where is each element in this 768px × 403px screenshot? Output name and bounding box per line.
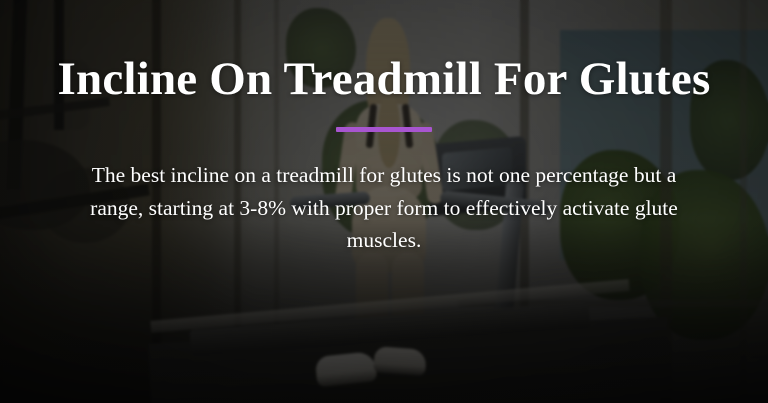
banner-content: Incline On Treadmill For Glutes The best… — [0, 0, 768, 403]
banner-subtitle: The best incline on a treadmill for glut… — [64, 159, 704, 257]
hero-banner: Incline On Treadmill For Glutes The best… — [0, 0, 768, 403]
accent-divider — [336, 127, 432, 132]
page-title: Incline On Treadmill For Glutes — [44, 52, 724, 107]
